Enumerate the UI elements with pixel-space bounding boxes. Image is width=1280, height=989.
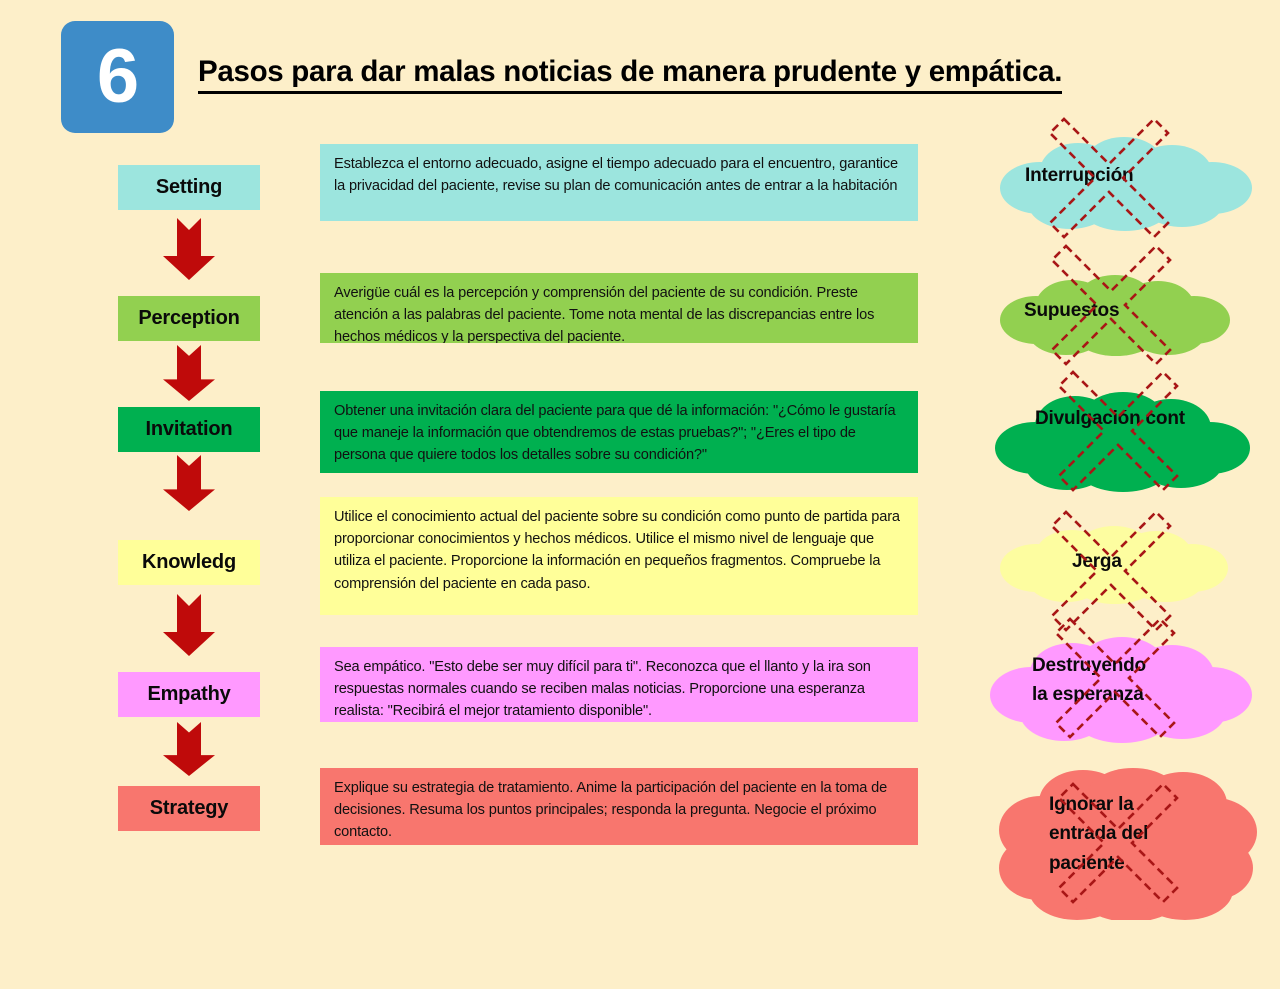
description-strategy: Explique su estrategia de tratamiento. A… (320, 768, 918, 845)
description-knowledge: Utilice el conocimiento actual del pacie… (320, 497, 918, 615)
flow-arrow-2 (161, 345, 217, 401)
description-empathy: Sea empático. "Esto debe ser muy difícil… (320, 647, 918, 722)
flow-arrow-1 (161, 218, 217, 280)
infographic-canvas: 6 Pasos para dar malas noticias de maner… (0, 0, 1280, 989)
step-chip-setting[interactable]: Setting (118, 165, 260, 210)
pitfall-label-divulgacion: Divulgación cont (1035, 404, 1185, 433)
pitfall-label-jerga: Jerga (1072, 547, 1122, 576)
flow-arrow-3 (161, 455, 217, 511)
step-chip-perception[interactable]: Perception (118, 296, 260, 341)
step-chip-knowledge[interactable]: Knowledg (118, 540, 260, 585)
step-count-badge: 6 (61, 21, 174, 133)
description-setting: Establezca el entorno adecuado, asigne e… (320, 144, 918, 221)
page-title: Pasos para dar malas noticias de manera … (198, 55, 1062, 94)
step-chip-empathy[interactable]: Empathy (118, 672, 260, 717)
pitfall-label-supuestos: Supuestos (1024, 296, 1119, 325)
step-chip-strategy[interactable]: Strategy (118, 786, 260, 831)
description-invitation: Obtener una invitación clara del pacient… (320, 391, 918, 473)
flow-arrow-5 (161, 722, 217, 776)
pitfall-cloud-jerga: Jerga (1000, 522, 1228, 604)
pitfall-cloud-supuestos: Supuestos (1000, 272, 1230, 356)
pitfall-label-destruyendo: Destruyendo la esperanza (1032, 651, 1146, 710)
description-perception: Averigüe cuál es la percepción y compren… (320, 273, 918, 343)
pitfall-cloud-interruption: Interrupción (1000, 133, 1252, 231)
pitfall-cloud-destruyendo: Destruyendo la esperanza (990, 635, 1252, 743)
pitfall-cloud-ignorar: Ignorar la entrada del paciente (995, 768, 1257, 920)
pitfall-label-interruption: Interrupción (1025, 161, 1133, 190)
step-chip-invitation[interactable]: Invitation (118, 407, 260, 452)
pitfall-cloud-divulgacion: Divulgación cont (995, 390, 1250, 492)
pitfall-label-ignorar: Ignorar la entrada del paciente (1049, 790, 1148, 878)
flow-arrow-4 (161, 594, 217, 656)
